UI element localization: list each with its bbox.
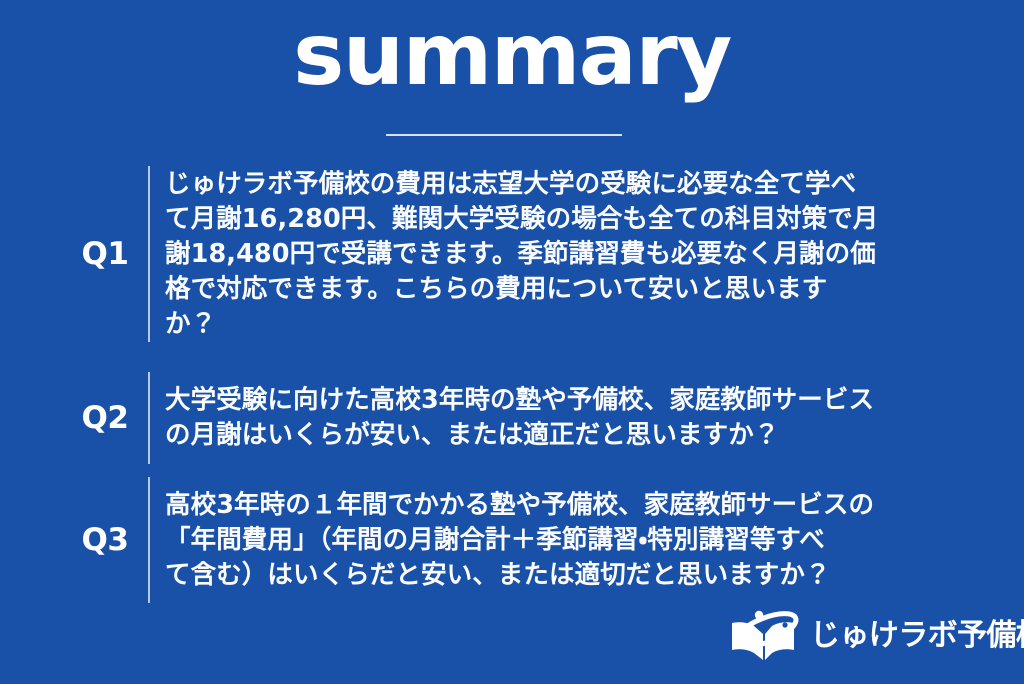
question-label: Q3 <box>54 525 148 556</box>
title-divider <box>386 134 622 136</box>
question-divider <box>148 477 150 603</box>
page-title: summary <box>0 12 1024 98</box>
question-text: 高校3年時の１年間でかかる塾や予備校、家庭教師サービスの 「年間費用」（年間の月… <box>150 488 970 593</box>
brand-logo: じゅけラボ予備校 <box>728 606 1010 668</box>
question-divider <box>148 372 150 464</box>
question-text: じゅけラボ予備校の費用は志望大学の受験に必要な全て学べ て月謝16,280円、難… <box>150 167 970 342</box>
question-row: Q3 高校3年時の１年間でかかる塾や予備校、家庭教師サービスの 「年間費用」（年… <box>54 477 970 603</box>
question-row: Q1 じゅけラボ予備校の費用は志望大学の受験に必要な全て学べ て月謝16,280… <box>54 166 970 342</box>
brand-wordmark: じゅけラボ予備校 <box>802 621 1024 653</box>
question-text: 大学受験に向けた高校3年時の塾や予備校、家庭教師サービス の月謝はいくらが安い、… <box>150 383 970 453</box>
question-row: Q2 大学受験に向けた高校3年時の塾や予備校、家庭教師サービス の月謝はいくらが… <box>54 372 970 464</box>
summary-slide: summary Q1 じゅけラボ予備校の費用は志望大学の受験に必要な全て学べ て… <box>0 0 1024 684</box>
question-label: Q1 <box>54 239 148 270</box>
slide-header: summary <box>0 0 1024 150</box>
question-label: Q2 <box>54 403 148 434</box>
open-book-orbit-icon <box>728 607 802 667</box>
question-divider <box>148 166 150 342</box>
